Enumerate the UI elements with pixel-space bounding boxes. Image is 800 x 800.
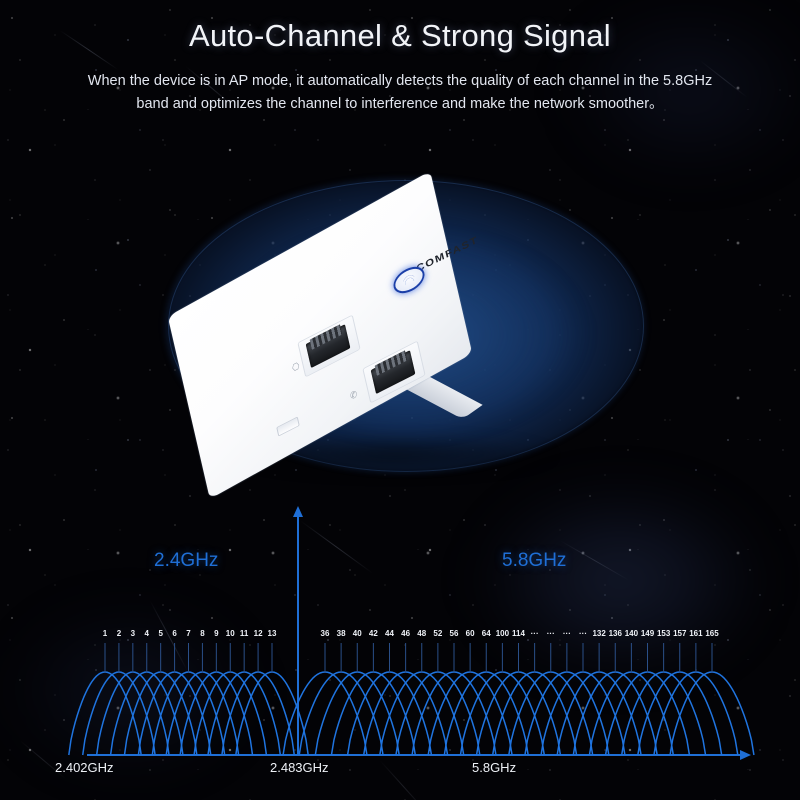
product-feature-banner: Auto-Channel & Strong Signal When the de…: [0, 0, 800, 800]
channel-spectrum-chart: 1234567891011121336384042444648525660641…: [0, 495, 800, 800]
channel-label: 6: [172, 629, 177, 638]
axis-tick-58ghz: 5.8GHz: [472, 760, 516, 775]
channel-curve: [444, 672, 528, 755]
y-axis-arrow: [293, 506, 303, 517]
channel-label: 8: [200, 629, 205, 638]
channel-label: 114: [512, 629, 525, 638]
device-photo: COMFAST ⎔ ✆: [140, 160, 660, 490]
band-label-24ghz: 2.4GHz: [154, 550, 218, 572]
channel-label: 5: [158, 629, 163, 638]
channel-curve: [557, 672, 641, 755]
page-title: Auto-Channel & Strong Signal: [0, 0, 800, 54]
channel-label: ···: [563, 629, 571, 638]
access-point-device: COMFAST ⎔ ✆: [170, 185, 590, 455]
axis-tick-2483ghz: 2.483GHz: [270, 760, 329, 775]
channel-label: 157: [673, 629, 687, 638]
channel-curve: [348, 672, 432, 755]
channel-curve: [380, 672, 464, 755]
channel-curve: [509, 672, 593, 755]
channel-label: 10: [226, 629, 235, 638]
band-label-58ghz: 5.8GHz: [502, 550, 566, 572]
axis-tick-2402ghz: 2.402GHz: [55, 760, 114, 775]
channel-curve: [493, 672, 577, 755]
channel-curve: [460, 672, 544, 755]
channel-label: 11: [240, 629, 249, 638]
channel-label: 64: [482, 629, 491, 638]
channel-label: 7: [186, 629, 191, 638]
channel-curve: [412, 672, 496, 755]
channel-label: 44: [385, 629, 394, 638]
channel-label: 132: [592, 629, 606, 638]
channel-curve: [670, 672, 754, 755]
channel-label: 153: [657, 629, 671, 638]
channel-label: 38: [337, 629, 346, 638]
channel-label: 42: [369, 629, 378, 638]
channel-curve: [541, 672, 625, 755]
channel-curve: [315, 672, 399, 755]
channel-label: 46: [401, 629, 410, 638]
channel-label: 12: [254, 629, 263, 638]
channel-label: 56: [450, 629, 459, 638]
channel-label: 161: [689, 629, 703, 638]
channel-curve: [589, 672, 673, 755]
channel-curve: [525, 672, 609, 755]
channel-curve: [428, 672, 512, 755]
channel-label: 140: [625, 629, 639, 638]
x-axis-arrow: [740, 750, 751, 760]
channel-label: 165: [705, 629, 719, 638]
channel-curve: [331, 672, 415, 755]
channel-curve: [299, 672, 383, 755]
channel-label: 36: [321, 629, 330, 638]
channel-label: 48: [417, 629, 426, 638]
page-subtitle: When the device is in AP mode, it automa…: [70, 70, 730, 117]
channel-label: 4: [145, 629, 150, 638]
channel-label: 52: [433, 629, 442, 638]
channel-curve: [654, 672, 738, 755]
channel-label: 9: [214, 629, 219, 638]
channel-curve: [283, 672, 367, 755]
channel-curve: [638, 672, 722, 755]
channel-curve: [364, 672, 448, 755]
channel-label: 40: [353, 629, 362, 638]
banner-header: Auto-Channel & Strong Signal When the de…: [0, 0, 800, 117]
channel-label: ···: [579, 629, 587, 638]
channel-label: 136: [609, 629, 623, 638]
channel-label: 1: [103, 629, 108, 638]
channel-label: 60: [466, 629, 475, 638]
channel-label: 149: [641, 629, 655, 638]
channel-curve: [622, 672, 706, 755]
channel-label: 2: [117, 629, 122, 638]
channel-label: 100: [496, 629, 510, 638]
channel-curve: [573, 672, 657, 755]
spectrum-svg: 1234567891011121336384042444648525660641…: [0, 495, 800, 800]
channel-curve: [396, 672, 480, 755]
channel-label: 3: [131, 629, 136, 638]
channel-label: ···: [547, 629, 555, 638]
channel-curve: [606, 672, 690, 755]
channel-label: 13: [268, 629, 277, 638]
channel-curve: [477, 672, 561, 755]
channel-label: ···: [531, 629, 539, 638]
